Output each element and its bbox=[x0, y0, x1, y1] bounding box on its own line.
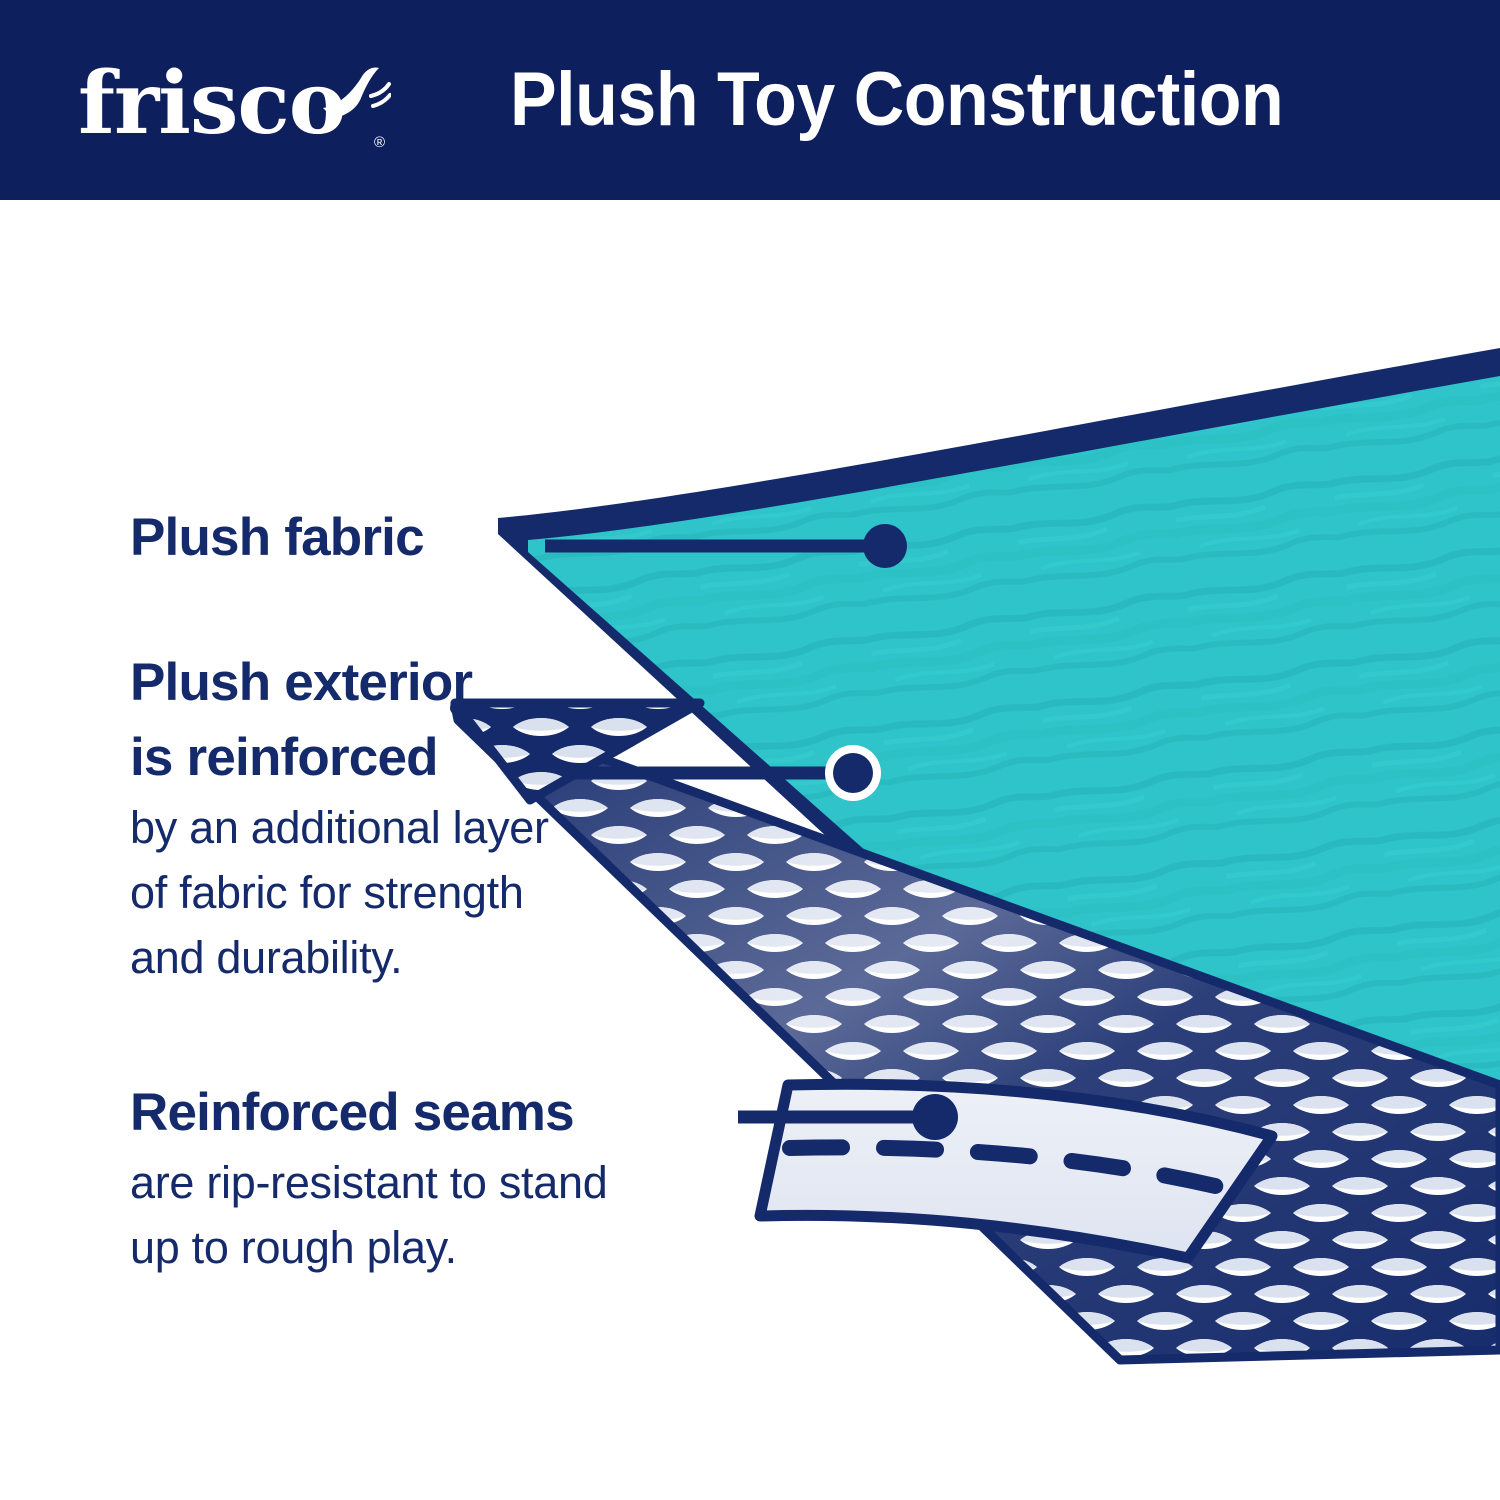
label-plush-fabric: Plush fabric bbox=[130, 500, 424, 575]
label-plush-fabric-heading: Plush fabric bbox=[130, 500, 424, 575]
page-title: Plush Toy Construction bbox=[510, 48, 1338, 152]
label-plush-exterior-body-line1: by an additional layer bbox=[130, 795, 549, 860]
header-bar: frisco ® Plush Toy Construction bbox=[0, 0, 1500, 200]
label-reinforced-seams-body-line2: up to rough play. bbox=[130, 1215, 607, 1280]
registered-mark: ® bbox=[374, 134, 385, 151]
label-plush-exterior: Plush exterior is reinforced by an addit… bbox=[130, 645, 549, 990]
label-plush-exterior-body-line3: and durability. bbox=[130, 925, 549, 990]
infographic-canvas: frisco ® Plush Toy Construction bbox=[0, 0, 1500, 1500]
label-plush-exterior-body-line2: of fabric for strength bbox=[130, 860, 549, 925]
label-reinforced-seams: Reinforced seams are rip-resistant to st… bbox=[130, 1075, 607, 1280]
label-plush-exterior-heading-line2: is reinforced bbox=[130, 720, 549, 795]
label-reinforced-seams-heading: Reinforced seams bbox=[130, 1075, 607, 1150]
label-reinforced-seams-body-line1: are rip-resistant to stand bbox=[130, 1150, 607, 1215]
label-plush-exterior-heading-line1: Plush exterior bbox=[130, 645, 549, 720]
frisco-logo: frisco ® bbox=[78, 52, 378, 156]
logo-wordmark: frisco bbox=[78, 52, 345, 156]
